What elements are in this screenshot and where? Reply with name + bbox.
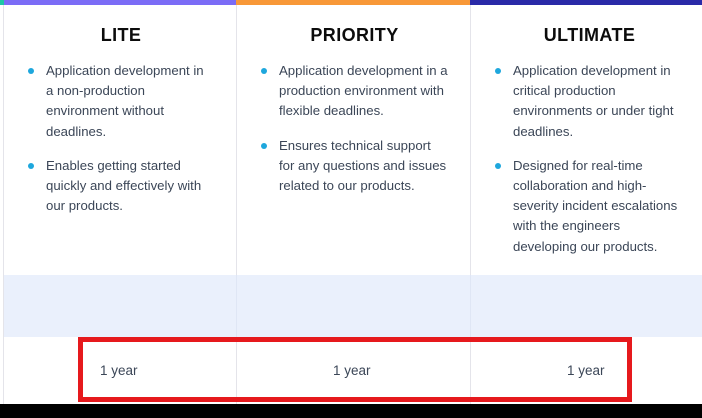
- duration-value: 1 year: [100, 363, 138, 378]
- plan-comparison-table: LITE Application development in a non-pr…: [0, 0, 702, 404]
- tinted-separator-band: [4, 275, 702, 337]
- plan-column-ultimate: ULTIMATE Application development in crit…: [471, 5, 702, 275]
- bullet-icon: [28, 163, 34, 169]
- feature-item: Enables getting started quickly and effe…: [28, 156, 214, 217]
- plan-title-ultimate: ULTIMATE: [495, 5, 684, 44]
- feature-item: Application development in a non-product…: [28, 61, 214, 142]
- feature-text: Application development in critical prod…: [513, 63, 674, 139]
- plan-column-priority: PRIORITY Application development in a pr…: [237, 5, 470, 275]
- plan-title-priority: PRIORITY: [261, 5, 448, 44]
- plan-title-lite: LITE: [28, 5, 214, 44]
- bullet-icon: [28, 68, 34, 74]
- bullet-icon: [261, 68, 267, 74]
- plan-column-lite: LITE Application development in a non-pr…: [4, 5, 236, 275]
- band-divider-2: [470, 275, 471, 337]
- bullet-icon: [495, 163, 501, 169]
- feature-item: Application development in critical prod…: [495, 61, 684, 142]
- feature-text: Application development in a non-product…: [46, 63, 204, 139]
- pricing-comparison-screenshot: LITE Application development in a non-pr…: [0, 0, 702, 418]
- feature-list-ultimate: Application development in critical prod…: [495, 44, 684, 257]
- bottom-black-bar: [0, 404, 702, 418]
- feature-text: Enables getting started quickly and effe…: [46, 158, 201, 213]
- duration-value: 1 year: [333, 363, 371, 378]
- feature-item: Application development in a production …: [261, 61, 448, 122]
- feature-item: Designed for real-time collaboration and…: [495, 156, 684, 257]
- bullet-icon: [495, 68, 501, 74]
- feature-list-lite: Application development in a non-product…: [28, 44, 214, 216]
- feature-text: Ensures technical support for any questi…: [279, 138, 446, 193]
- feature-text: Application development in a production …: [279, 63, 448, 118]
- duration-value: 1 year: [567, 363, 605, 378]
- feature-list-priority: Application development in a production …: [261, 44, 448, 196]
- bullet-icon: [261, 143, 267, 149]
- feature-text: Designed for real-time collaboration and…: [513, 158, 677, 254]
- duration-row: 1 year 1 year 1 year: [4, 337, 702, 404]
- duration-cell-priority: 1 year: [236, 337, 470, 404]
- duration-cell-lite: 1 year: [4, 337, 236, 404]
- duration-cell-ultimate: 1 year: [470, 337, 702, 404]
- band-divider-1: [236, 275, 237, 337]
- feature-item: Ensures technical support for any questi…: [261, 136, 448, 197]
